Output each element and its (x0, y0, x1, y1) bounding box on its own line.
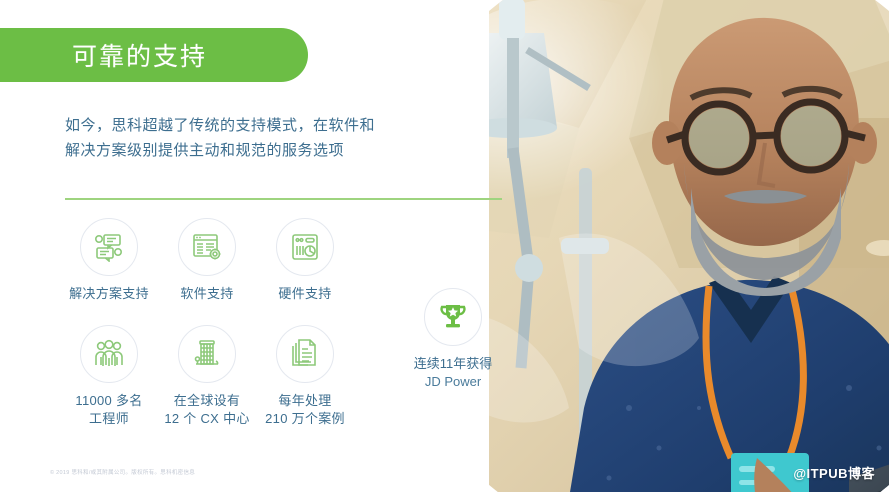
intro-line-2: 解决方案级别提供主动和规范的服务选项 (65, 138, 465, 163)
icon-circle (178, 218, 236, 276)
icon-label-line-2: 12 个 CX 中心 (164, 410, 249, 428)
icon-cell-cases[interactable]: 每年处理 210 万个案例 (256, 325, 354, 428)
icon-circle (80, 325, 138, 383)
icon-circle (424, 288, 482, 346)
award-label-line-2: JD Power (414, 373, 493, 391)
icon-circle (80, 218, 138, 276)
title-banner: 可靠的支持 (0, 28, 308, 82)
icon-label: 每年处理 210 万个案例 (265, 392, 345, 428)
people-group-icon (94, 339, 124, 369)
icon-label: 软件支持 (180, 285, 233, 303)
page-title: 可靠的支持 (72, 37, 207, 73)
icon-circle (276, 218, 334, 276)
icon-cell-software-support[interactable]: 软件支持 (158, 218, 256, 303)
slide-root: 可靠的支持 如今，思科超越了传统的支持模式，在软件和 解决方案级别提供主动和规范… (0, 0, 889, 492)
intro-line-1: 如今，思科超越了传统的支持模式，在软件和 (65, 113, 465, 138)
photo-circular-clip (489, 0, 889, 492)
icon-circle (276, 325, 334, 383)
icon-label-line-1: 每年处理 (265, 392, 345, 410)
intro-paragraph: 如今，思科超越了传统的支持模式，在软件和 解决方案级别提供主动和规范的服务选项 (65, 113, 465, 163)
trophy-icon (437, 301, 469, 333)
award-cell-jd-power[interactable]: 连续11年获得 JD Power (393, 288, 513, 391)
icon-label: 在全球设有 12 个 CX 中心 (164, 392, 249, 428)
icon-label-line-2: 210 万个案例 (265, 410, 345, 428)
watermark: @ITPUB博客 (793, 463, 875, 482)
copyright-notice: © 2019 思科和/或其附属公司。版权所有。思科机密信息 (50, 468, 195, 476)
building-icon (192, 339, 222, 369)
chat-bubbles-icon (94, 232, 124, 262)
documents-stack-icon (290, 339, 320, 369)
icon-label-line-1: 11000 多名 (75, 392, 142, 410)
code-window-gear-icon (192, 232, 222, 262)
icon-cell-cx-centers[interactable]: 在全球设有 12 个 CX 中心 (158, 325, 256, 428)
icon-cell-engineers[interactable]: 11000 多名 工程师 (60, 325, 158, 428)
icon-label: 11000 多名 工程师 (75, 392, 142, 428)
award-label: 连续11年获得 JD Power (414, 355, 493, 391)
icon-cell-solution-support[interactable]: 解决方案支持 (60, 218, 158, 303)
icon-cell-hardware-support[interactable]: 硬件支持 (256, 218, 354, 303)
server-panel-icon (290, 232, 320, 262)
icon-label: 解决方案支持 (69, 285, 149, 303)
photo-panel (489, 0, 889, 492)
icon-circle (178, 325, 236, 383)
award-label-line-1: 连续11年获得 (414, 355, 493, 373)
green-divider (65, 198, 502, 200)
icon-label-line-1: 在全球设有 (164, 392, 249, 410)
icon-label-line-2: 工程师 (75, 410, 142, 428)
icon-label: 硬件支持 (278, 285, 331, 303)
technician-at-console-photo (489, 0, 889, 492)
